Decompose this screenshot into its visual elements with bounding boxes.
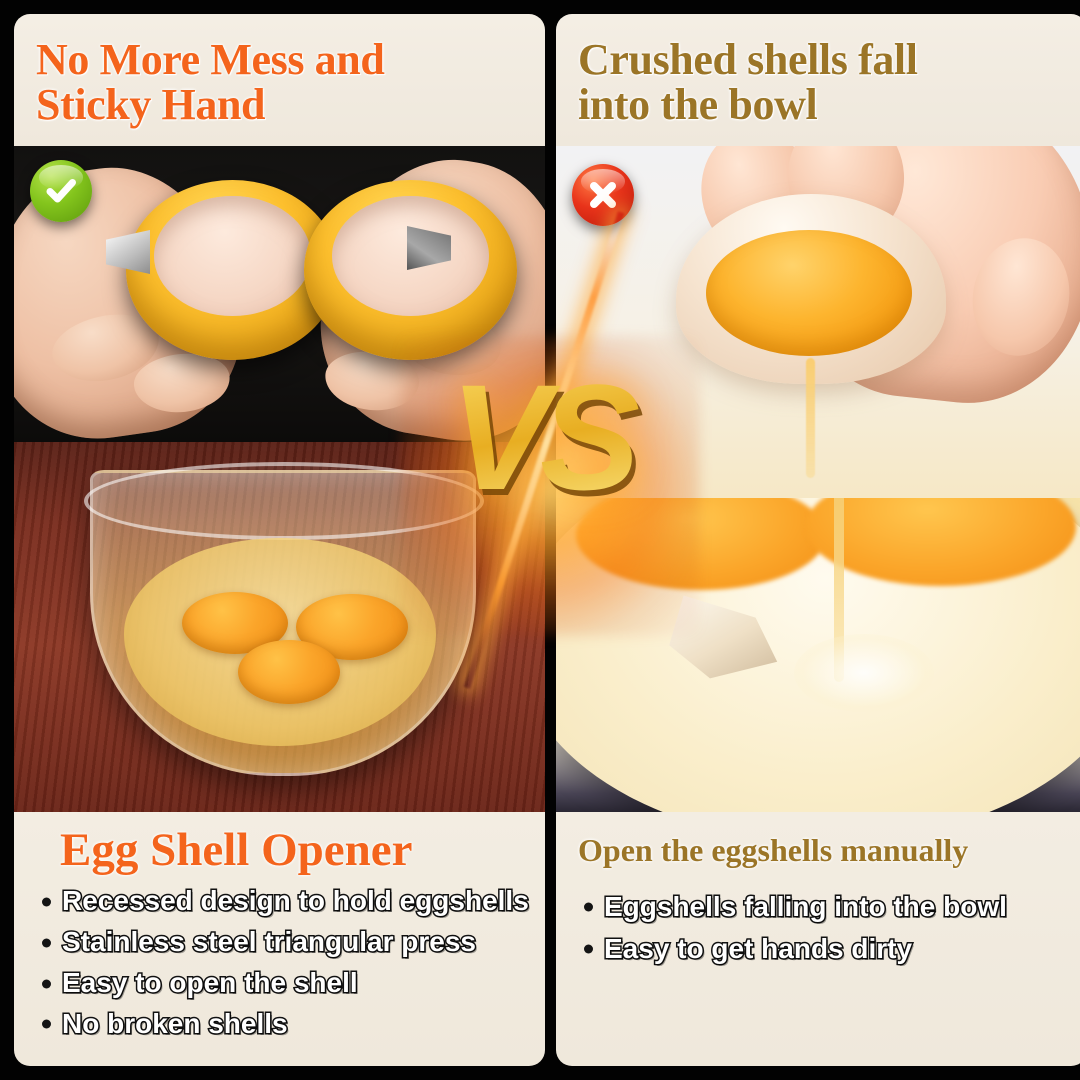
photo-hand-cracking-eggshell — [556, 146, 1080, 498]
photo-glass-bowl-with-yolks — [14, 442, 545, 812]
right-headline-line-1: Crushed shells fall — [578, 38, 1073, 83]
list-item: Eggshells falling into the bowl — [576, 886, 1071, 929]
right-headline-line-2: into the bowl — [578, 83, 1073, 128]
egg-yolk-in-shell — [706, 230, 912, 356]
right-headline-card: Crushed shells fall into the bowl — [556, 14, 1080, 146]
left-photo-stage — [14, 146, 545, 812]
photo-bowl-with-fallen-shell — [556, 498, 1080, 812]
photo-egg-shell-opener-in-hands — [14, 146, 545, 442]
right-photo-stage — [556, 146, 1080, 812]
comparison-infographic: No More Mess and Sticky Hand — [0, 0, 1080, 1080]
left-caption-card: Egg Shell Opener Recessed design to hold… — [14, 812, 545, 1066]
egg-white-splash — [794, 634, 934, 712]
list-item: Recessed design to hold eggshells — [34, 881, 529, 922]
list-item: No broken shells — [34, 1004, 529, 1045]
right-comparison-column: Crushed shells fall into the bowl — [556, 14, 1080, 1066]
eggshell-cup-left — [154, 196, 311, 316]
check-icon — [30, 160, 92, 222]
list-item: Easy to get hands dirty — [576, 928, 1071, 971]
egg-yolk — [238, 640, 340, 704]
glass-bowl-rim — [84, 462, 484, 540]
left-headline-line-2: Sticky Hand — [36, 83, 531, 128]
right-drawback-list: Eggshells falling into the bowl Easy to … — [576, 874, 1071, 971]
left-comparison-column: No More Mess and Sticky Hand — [14, 14, 545, 1066]
list-item: Stainless steel triangular press — [34, 922, 529, 963]
right-method-title: Open the eggshells manually — [576, 826, 1071, 868]
opener-half-right — [304, 180, 517, 360]
cross-icon — [572, 164, 634, 226]
left-product-title: Egg Shell Opener — [34, 826, 529, 875]
egg-white-drip — [806, 358, 815, 478]
right-caption-card: Open the eggshells manually Eggshells fa… — [556, 812, 1080, 1066]
left-headline-card: No More Mess and Sticky Hand — [14, 14, 545, 146]
list-item: Easy to open the shell — [34, 963, 529, 1004]
left-headline-line-1: No More Mess and — [36, 38, 531, 83]
left-feature-list: Recessed design to hold eggshells Stainl… — [34, 881, 529, 1045]
